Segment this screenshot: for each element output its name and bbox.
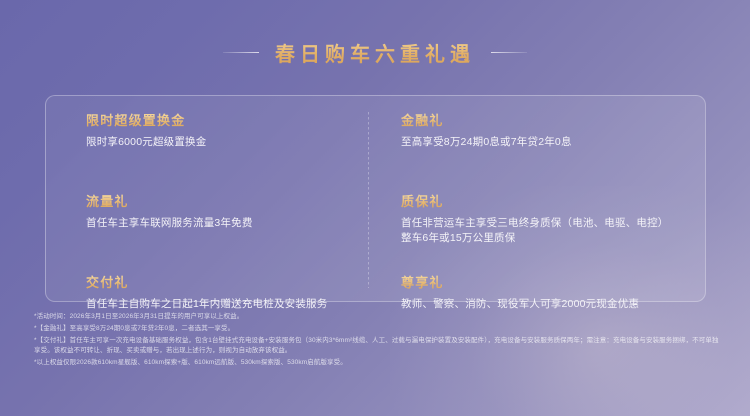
benefit-description-line: 限时享6000元超级置换金 — [86, 135, 386, 150]
benefit-description: 首任非营运车主享受三电终身质保（电池、电驱、电控） 整车6年或15万公里质保 — [401, 216, 701, 246]
page-title: 春日购车六重礼遇 — [0, 38, 750, 67]
title-rule-left-icon — [223, 52, 259, 53]
benefit-item: 金融礼 至高享受8万24期0息或7年贷2年0息 — [401, 112, 701, 175]
benefit-description: 限时享6000元超级置换金 — [86, 135, 386, 150]
benefit-description: 至高享受8万24期0息或7年贷2年0息 — [401, 135, 701, 150]
benefits-column-right: 金融礼 至高享受8万24期0息或7年贷2年0息 质保礼 首任非营运车主享受三电终… — [401, 112, 701, 314]
benefit-description: 首任车主自购车之日起1年内赠送充电桩及安装服务 — [86, 297, 386, 312]
benefit-title: 流量礼 — [86, 193, 386, 211]
promo-poster: 春日购车六重礼遇 限时超级置换金 限时享6000元超级置换金 流量礼 首任车主享… — [0, 0, 750, 416]
benefit-description: 首任车主享车联网服务流量3年免费 — [86, 216, 386, 231]
benefits-column-left: 限时超级置换金 限时享6000元超级置换金 流量礼 首任车主享车联网服务流量3年… — [86, 112, 386, 314]
benefit-description: 教师、警察、消防、现役军人可享2000元现金优惠 — [401, 297, 701, 312]
benefit-description-line: 首任车主自购车之日起1年内赠送充电桩及安装服务 — [86, 297, 386, 312]
benefit-item: 尊享礼 教师、警察、消防、现役军人可享2000元现金优惠 — [401, 274, 701, 314]
fineprint-line: *【交付礼】首任车主可享一次充电设备基础服务权益，包含1台壁挂式充电设备+安装服… — [34, 336, 724, 356]
benefit-item: 交付礼 首任车主自购车之日起1年内赠送充电桩及安装服务 — [86, 274, 386, 314]
fineprint-line: *以上权益仅限2026款610km星舰版、610km探索+版、610km远航版、… — [34, 358, 724, 368]
title-text: 春日购车六重礼遇 — [275, 38, 475, 67]
fineprint-line: *活动时间：2026年3月1日至2026年3月31日提车的用户可享以上权益。 — [34, 312, 724, 322]
benefit-description-line: 首任车主享车联网服务流量3年免费 — [86, 216, 386, 231]
benefit-description-line: 至高享受8万24期0息或7年贷2年0息 — [401, 135, 701, 150]
benefit-description-line: 整车6年或15万公里质保 — [401, 231, 701, 246]
fineprint-disclaimer: *活动时间：2026年3月1日至2026年3月31日提车的用户可享以上权益。 *… — [34, 312, 724, 370]
benefit-description-line: 首任非营运车主享受三电终身质保（电池、电驱、电控） — [401, 216, 701, 231]
title-rule-right-icon — [491, 52, 527, 53]
benefit-title: 质保礼 — [401, 193, 701, 211]
benefit-description-line: 教师、警察、消防、现役军人可享2000元现金优惠 — [401, 297, 701, 312]
fineprint-line: *【金融礼】至高享受8万24期0息或7年贷2年0息，二者选其一享受。 — [34, 324, 724, 334]
benefit-title: 交付礼 — [86, 274, 386, 292]
benefit-title: 尊享礼 — [401, 274, 701, 292]
benefits-panel: 限时超级置换金 限时享6000元超级置换金 流量礼 首任车主享车联网服务流量3年… — [45, 95, 706, 302]
benefit-item: 限时超级置换金 限时享6000元超级置换金 — [86, 112, 386, 175]
benefit-item: 质保礼 首任非营运车主享受三电终身质保（电池、电驱、电控） 整车6年或15万公里… — [401, 193, 701, 256]
benefit-title: 限时超级置换金 — [86, 112, 386, 130]
benefit-item: 流量礼 首任车主享车联网服务流量3年免费 — [86, 193, 386, 256]
benefit-title: 金融礼 — [401, 112, 701, 130]
